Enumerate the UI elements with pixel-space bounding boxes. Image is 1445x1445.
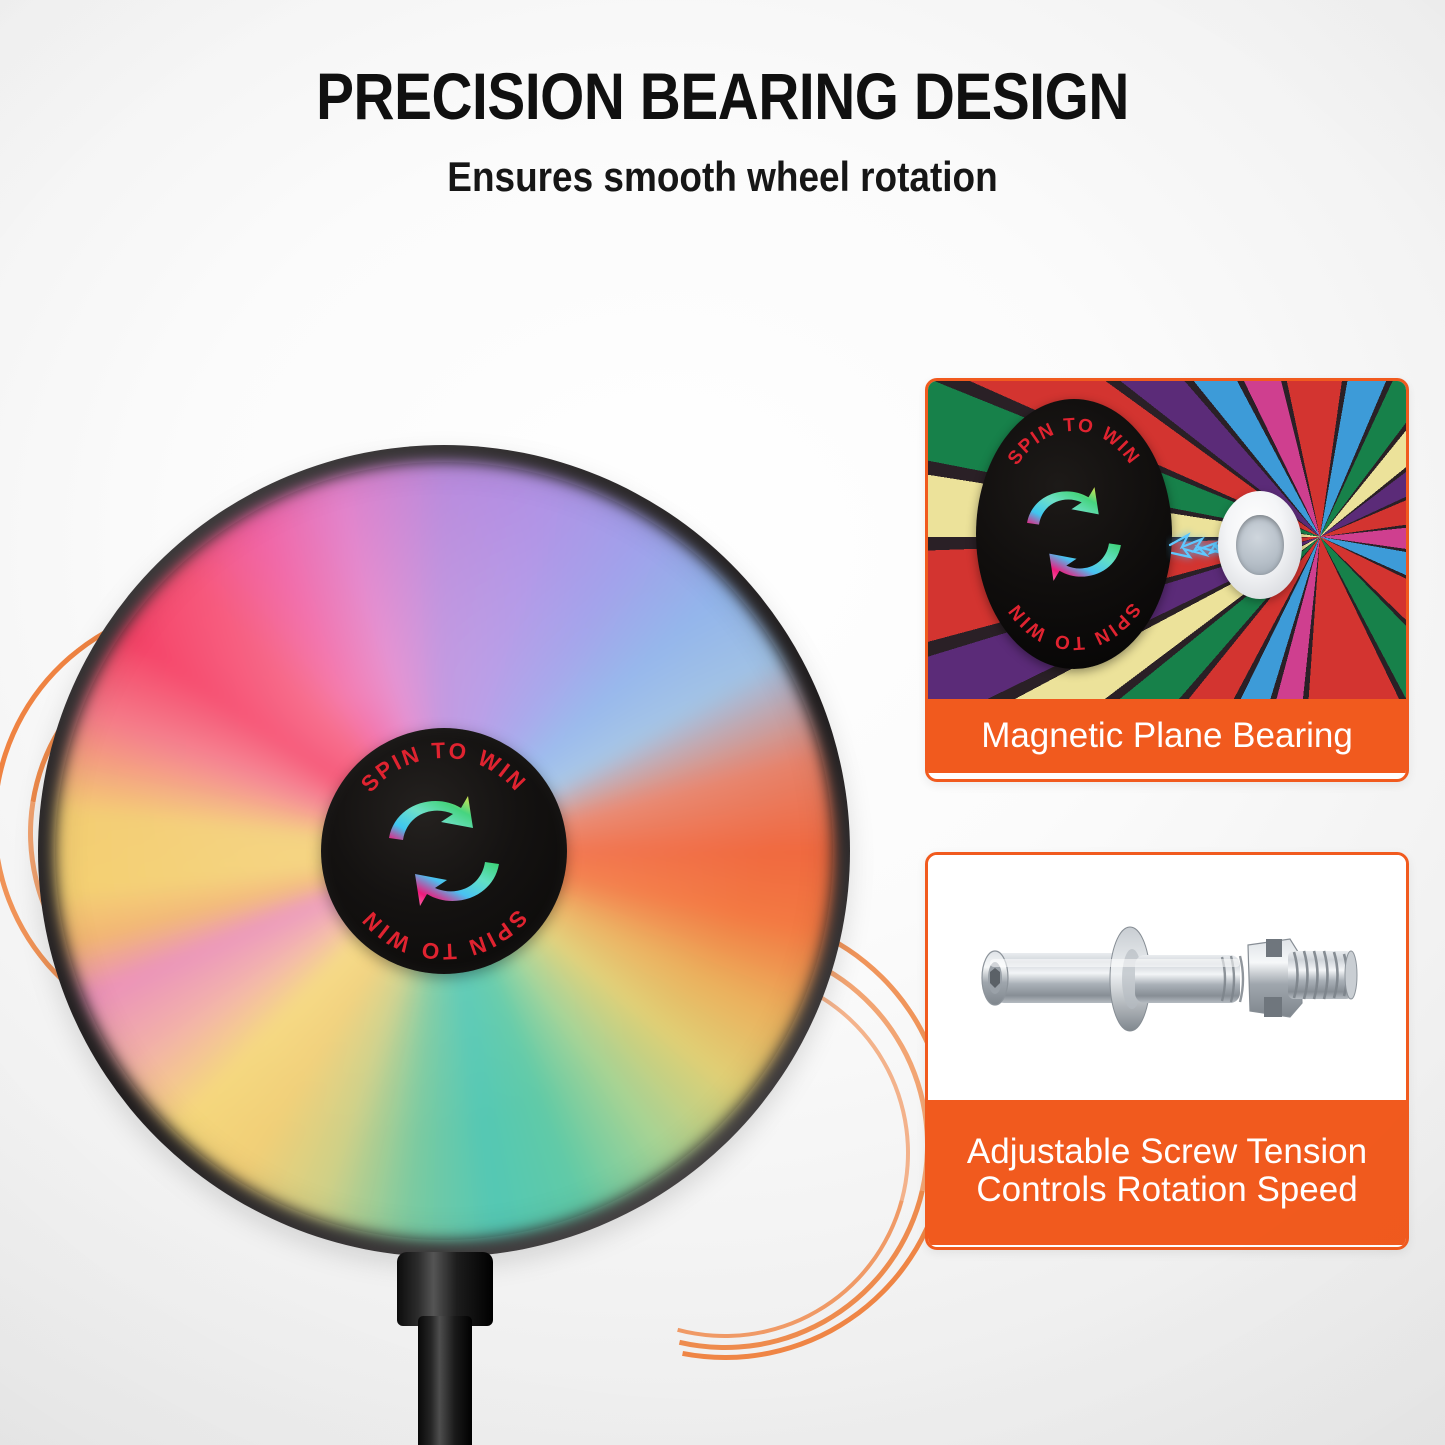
wheel-hub: SPIN TO WIN SPIN TO WIN: [321, 728, 567, 974]
closeup-hub-text-bottom: SPIN TO WIN: [1004, 599, 1144, 653]
panel-caption-screw-tension: Adjustable Screw Tension Controls Rotati…: [928, 1100, 1406, 1245]
closeup-hub: SPIN TO WIN SPIN TO WIN: [976, 399, 1172, 669]
recycle-arrows-icon: [369, 776, 519, 926]
header: PRECISION BEARING DESIGN Ensures smooth …: [0, 62, 1445, 201]
recycle-arrows-icon: [1010, 470, 1138, 598]
page-subtitle: Ensures smooth wheel rotation: [87, 153, 1359, 201]
screw-bolt-icon: [970, 911, 1370, 1051]
closeup-hub-text-top: SPIN TO WIN: [1004, 415, 1144, 469]
stand-collar: [397, 1252, 493, 1326]
prize-wheel: SPIN TO WIN SPIN TO WIN: [38, 445, 850, 1257]
stand-pole: [418, 1316, 472, 1445]
caption-line: Controls Rotation Speed: [976, 1171, 1357, 1209]
hero-product-photo: SPIN TO WIN SPIN TO WIN: [0, 250, 900, 1445]
page-title: PRECISION BEARING DESIGN: [101, 62, 1344, 131]
panel-image-screw-hardware: [928, 855, 1406, 1100]
panel-image-magnetic-bearing: SPIN TO WIN SPIN TO WIN: [928, 381, 1406, 699]
magnetic-bearing-cap: [1218, 491, 1302, 599]
caption-line: Magnetic Plane Bearing: [981, 717, 1353, 755]
feature-panel-magnetic-bearing: SPIN TO WIN SPIN TO WIN: [925, 378, 1409, 782]
caption-line: Adjustable Screw Tension: [967, 1133, 1367, 1171]
panel-caption-magnetic-bearing: Magnetic Plane Bearing: [928, 699, 1406, 773]
product-feature-image: PRECISION BEARING DESIGN Ensures smooth …: [0, 0, 1445, 1445]
feature-panel-screw-tension: Adjustable Screw Tension Controls Rotati…: [925, 852, 1409, 1250]
